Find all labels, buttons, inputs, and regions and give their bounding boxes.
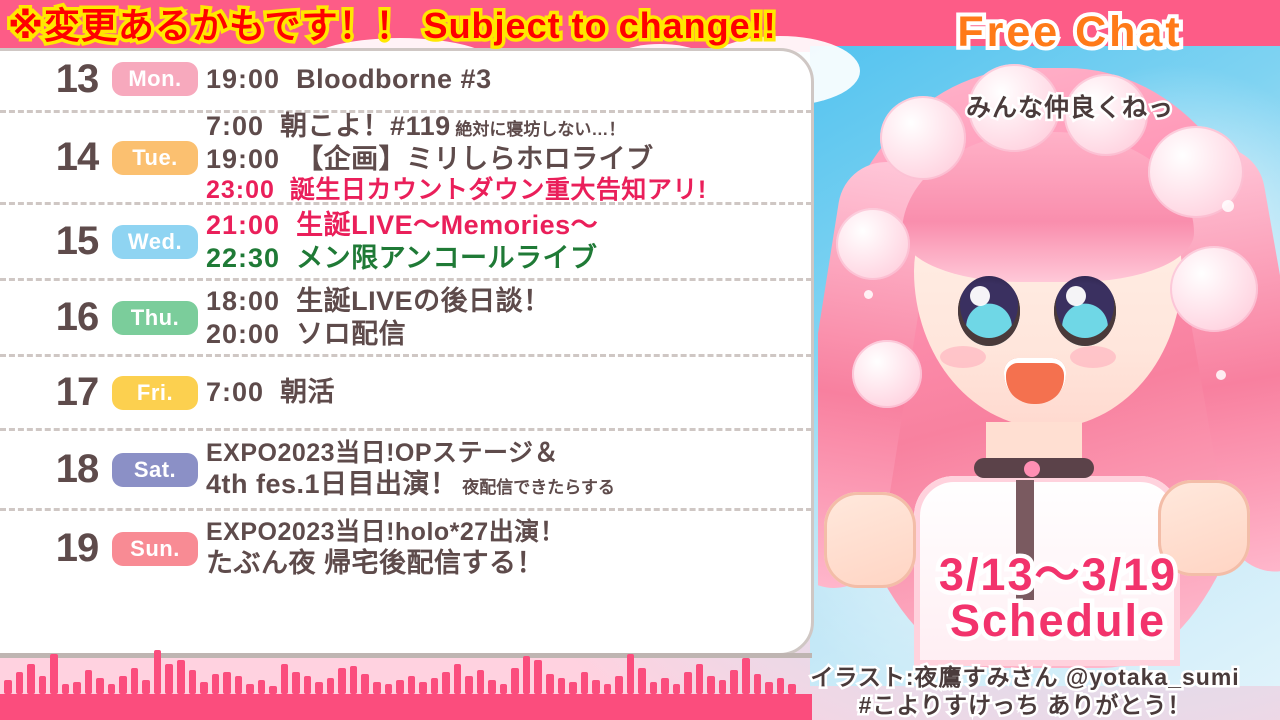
event-line: 18:00 生誕LIVEの後日談！ bbox=[206, 285, 798, 317]
event-list: 19:00 Bloodborne #3 bbox=[206, 63, 798, 95]
waveform-bar bbox=[85, 670, 93, 694]
event-line: 7:00 朝活 bbox=[206, 376, 798, 408]
waveform-bar bbox=[385, 684, 393, 694]
waveform-bar bbox=[615, 676, 623, 694]
event-time: 7:00 bbox=[206, 377, 264, 407]
schedule-row: 13Mon.19:00 Bloodborne #3 bbox=[0, 48, 812, 110]
waveform-bar bbox=[477, 670, 485, 694]
event-time: 7:00 bbox=[206, 111, 264, 141]
waveform-bar bbox=[142, 680, 150, 694]
waveform-bar bbox=[16, 672, 24, 694]
waveform-bar bbox=[696, 664, 704, 694]
event-title: 朝活 bbox=[280, 377, 335, 407]
waveform-bar bbox=[373, 682, 381, 694]
character-choker-gem bbox=[1024, 461, 1040, 477]
waveform-bar bbox=[465, 676, 473, 694]
waveform-bar bbox=[419, 682, 427, 694]
waveform-bar bbox=[431, 678, 439, 694]
waveform-bar bbox=[304, 676, 312, 694]
waveform-bar bbox=[350, 666, 358, 694]
waveform-bar bbox=[638, 668, 646, 694]
event-line: EXPO2023当日!OPステージ＆ bbox=[206, 438, 798, 468]
event-title: ソロ配信 bbox=[296, 319, 406, 349]
waveform-bar bbox=[742, 658, 750, 694]
schedule-graphic: 13Mon.19:00 Bloodborne #314Tue.7:00 朝こよ！… bbox=[0, 0, 1280, 720]
free-chat-subtitle: みんな仲良くねっ bbox=[868, 88, 1272, 124]
waveform-bar bbox=[730, 670, 738, 694]
date-number: 16 bbox=[46, 295, 108, 340]
foam-bubble bbox=[852, 340, 922, 408]
waveform-bar bbox=[131, 668, 139, 694]
event-title: 朝こよ！#119 bbox=[280, 111, 451, 141]
schedule-row: 17Fri.7:00 朝活 bbox=[0, 354, 812, 428]
event-title: EXPO2023当日!holo*27出演！ bbox=[206, 518, 565, 546]
event-line: 20:00 ソロ配信 bbox=[206, 318, 798, 350]
schedule-row: 14Tue.7:00 朝こよ！#119 絶対に寝坊しない…！19:00 【企画】… bbox=[0, 110, 812, 202]
event-title: 【企画】ミリしらホロライブ bbox=[296, 144, 654, 174]
event-line: 22:30 メン限アンコールライブ bbox=[206, 242, 798, 274]
waveform-bar bbox=[96, 678, 104, 694]
waveform-bar bbox=[454, 664, 462, 694]
foam-bubble bbox=[1170, 246, 1258, 332]
change-warning-text: ※変更あるかもです！！ Subject to change!! bbox=[8, 2, 948, 52]
waveform-bar bbox=[684, 672, 692, 694]
event-title: 生誕LIVEの後日談！ bbox=[296, 286, 551, 316]
sparkle bbox=[864, 290, 873, 299]
date-number: 14 bbox=[46, 135, 108, 180]
free-chat-title: Free Chat bbox=[868, 8, 1272, 57]
event-list: 18:00 生誕LIVEの後日談！20:00 ソロ配信 bbox=[206, 285, 798, 350]
event-time: 20:00 bbox=[206, 319, 280, 349]
waveform-bar bbox=[200, 682, 208, 694]
waveform-bar bbox=[396, 680, 404, 694]
waveform-bar bbox=[154, 650, 162, 694]
character-blush-left bbox=[940, 346, 986, 368]
waveform-bar bbox=[338, 668, 346, 694]
day-badge-thu: Thu. bbox=[112, 301, 198, 335]
sparkle bbox=[1222, 200, 1234, 212]
waveform-bar bbox=[62, 684, 70, 694]
event-line: 7:00 朝こよ！#119 絶対に寝坊しない…！ bbox=[206, 110, 798, 142]
waveform-bar bbox=[235, 676, 243, 694]
waveform-bar bbox=[442, 672, 450, 694]
event-line: 4th fes.1日目出演！ 夜配信できたらする bbox=[206, 468, 798, 500]
waveform-bar bbox=[361, 674, 369, 694]
waveform-bar bbox=[315, 682, 323, 694]
waveform-bar bbox=[719, 680, 727, 694]
date-number: 19 bbox=[46, 526, 108, 571]
schedule-rows: 13Mon.19:00 Bloodborne #314Tue.7:00 朝こよ！… bbox=[0, 48, 812, 656]
waveform-bar bbox=[189, 670, 197, 694]
date-number: 15 bbox=[46, 219, 108, 264]
event-time: 19:00 bbox=[206, 144, 280, 174]
waveform-bar bbox=[511, 668, 519, 694]
character-eye-right bbox=[1054, 276, 1116, 346]
waveform-bar bbox=[627, 654, 635, 694]
schedule-word: Schedule bbox=[836, 598, 1280, 644]
waveform-bar bbox=[73, 682, 81, 694]
date-number: 18 bbox=[46, 447, 108, 492]
event-note: 夜配信できたらする bbox=[458, 478, 615, 497]
waveform-bar bbox=[408, 676, 416, 694]
event-title: Bloodborne #3 bbox=[296, 64, 492, 94]
event-title: 生誕LIVE〜Memories〜 bbox=[296, 210, 598, 240]
day-badge-fri: Fri. bbox=[112, 376, 198, 410]
waveform-bar bbox=[108, 684, 116, 694]
waveform-bar bbox=[165, 664, 173, 694]
waveform-bar bbox=[212, 674, 220, 694]
waveform-bar bbox=[581, 672, 589, 694]
waveform-bar bbox=[754, 674, 762, 694]
waveform-bar bbox=[673, 684, 681, 694]
schedule-row: 19Sun.EXPO2023当日!holo*27出演！たぶん夜 帰宅後配信する！ bbox=[0, 508, 812, 586]
event-list: EXPO2023当日!OPステージ＆4th fes.1日目出演！ 夜配信できたら… bbox=[206, 438, 798, 500]
waveform-bar bbox=[661, 678, 669, 694]
event-title: たぶん夜 帰宅後配信する！ bbox=[206, 548, 544, 578]
schedule-row: 18Sat.EXPO2023当日!OPステージ＆4th fes.1日目出演！ 夜… bbox=[0, 428, 812, 508]
waveform-bar bbox=[500, 684, 508, 694]
day-badge-sat: Sat. bbox=[112, 453, 198, 487]
waveform-bar bbox=[604, 684, 612, 694]
waveform-bar bbox=[119, 676, 127, 694]
event-title: 4th fes.1日目出演！ bbox=[206, 469, 458, 499]
schedule-row: 16Thu.18:00 生誕LIVEの後日談！20:00 ソロ配信 bbox=[0, 278, 812, 354]
day-badge-mon: Mon. bbox=[112, 62, 198, 96]
event-line: 19:00 Bloodborne #3 bbox=[206, 63, 798, 95]
waveform-bar bbox=[50, 654, 58, 694]
event-time: 19:00 bbox=[206, 64, 280, 94]
event-line: 23:00 誕生日カウントダウン重大告知アリ! bbox=[206, 175, 798, 205]
foam-bubble bbox=[836, 208, 910, 280]
date-number: 17 bbox=[46, 370, 108, 415]
waveform-bar bbox=[223, 672, 231, 694]
schedule-date-range: 3/13〜3/19 bbox=[939, 549, 1177, 600]
event-line: 21:00 生誕LIVE〜Memories〜 bbox=[206, 209, 798, 241]
character-eye-left bbox=[958, 276, 1020, 346]
credit-hashtag: #こよりすけっち ありがとう！ bbox=[770, 686, 1280, 720]
waveform-bar bbox=[258, 680, 266, 694]
event-line: EXPO2023当日!holo*27出演！ bbox=[206, 517, 798, 547]
day-badge-sun: Sun. bbox=[112, 532, 198, 566]
schedule-title: 3/13〜3/19 Schedule bbox=[836, 552, 1280, 644]
event-list: EXPO2023当日!holo*27出演！たぶん夜 帰宅後配信する！ bbox=[206, 517, 798, 579]
waveform-bar bbox=[569, 682, 577, 694]
waveform-decoration bbox=[0, 654, 800, 720]
waveform-bar bbox=[488, 680, 496, 694]
event-time: 21:00 bbox=[206, 210, 280, 240]
waveform-bar bbox=[534, 660, 542, 694]
waveform-bar bbox=[27, 664, 35, 694]
waveform-bar bbox=[650, 682, 658, 694]
event-title: メン限アンコールライブ bbox=[296, 243, 597, 273]
event-list: 7:00 朝活 bbox=[206, 376, 798, 408]
event-title: EXPO2023当日!OPステージ＆ bbox=[206, 439, 559, 467]
waveform-bar bbox=[269, 686, 277, 694]
schedule-row: 15Wed.21:00 生誕LIVE〜Memories〜22:30 メン限アンコ… bbox=[0, 202, 812, 278]
event-title: 誕生日カウントダウン重大告知アリ! bbox=[290, 176, 707, 204]
event-line: 19:00 【企画】ミリしらホロライブ bbox=[206, 143, 798, 175]
waveform-bar bbox=[281, 664, 289, 694]
character-blush-right bbox=[1070, 346, 1116, 368]
day-badge-tue: Tue. bbox=[112, 141, 198, 175]
waveform-bar bbox=[558, 678, 566, 694]
waveform-bar bbox=[592, 680, 600, 694]
event-time: 18:00 bbox=[206, 286, 280, 316]
waveform-bar bbox=[4, 680, 12, 694]
event-note: 絶対に寝坊しない…！ bbox=[451, 120, 626, 139]
sparkle bbox=[1216, 370, 1226, 380]
event-line: たぶん夜 帰宅後配信する！ bbox=[206, 547, 798, 579]
waveform-bar bbox=[327, 678, 335, 694]
waveform-bar bbox=[39, 676, 47, 694]
waveform-bar bbox=[707, 676, 715, 694]
waveform-bar bbox=[177, 660, 185, 694]
waveform-bar bbox=[246, 684, 254, 694]
event-time: 23:00 bbox=[206, 176, 275, 204]
event-time: 22:30 bbox=[206, 243, 280, 273]
day-badge-wed: Wed. bbox=[112, 225, 198, 259]
waveform-bar bbox=[523, 656, 531, 694]
waveform-bar bbox=[546, 674, 554, 694]
waveform-bar bbox=[292, 672, 300, 694]
event-list: 21:00 生誕LIVE〜Memories〜22:30 メン限アンコールライブ bbox=[206, 209, 798, 274]
event-list: 7:00 朝こよ！#119 絶対に寝坊しない…！19:00 【企画】ミリしらホロ… bbox=[206, 110, 798, 205]
date-number: 13 bbox=[46, 57, 108, 102]
